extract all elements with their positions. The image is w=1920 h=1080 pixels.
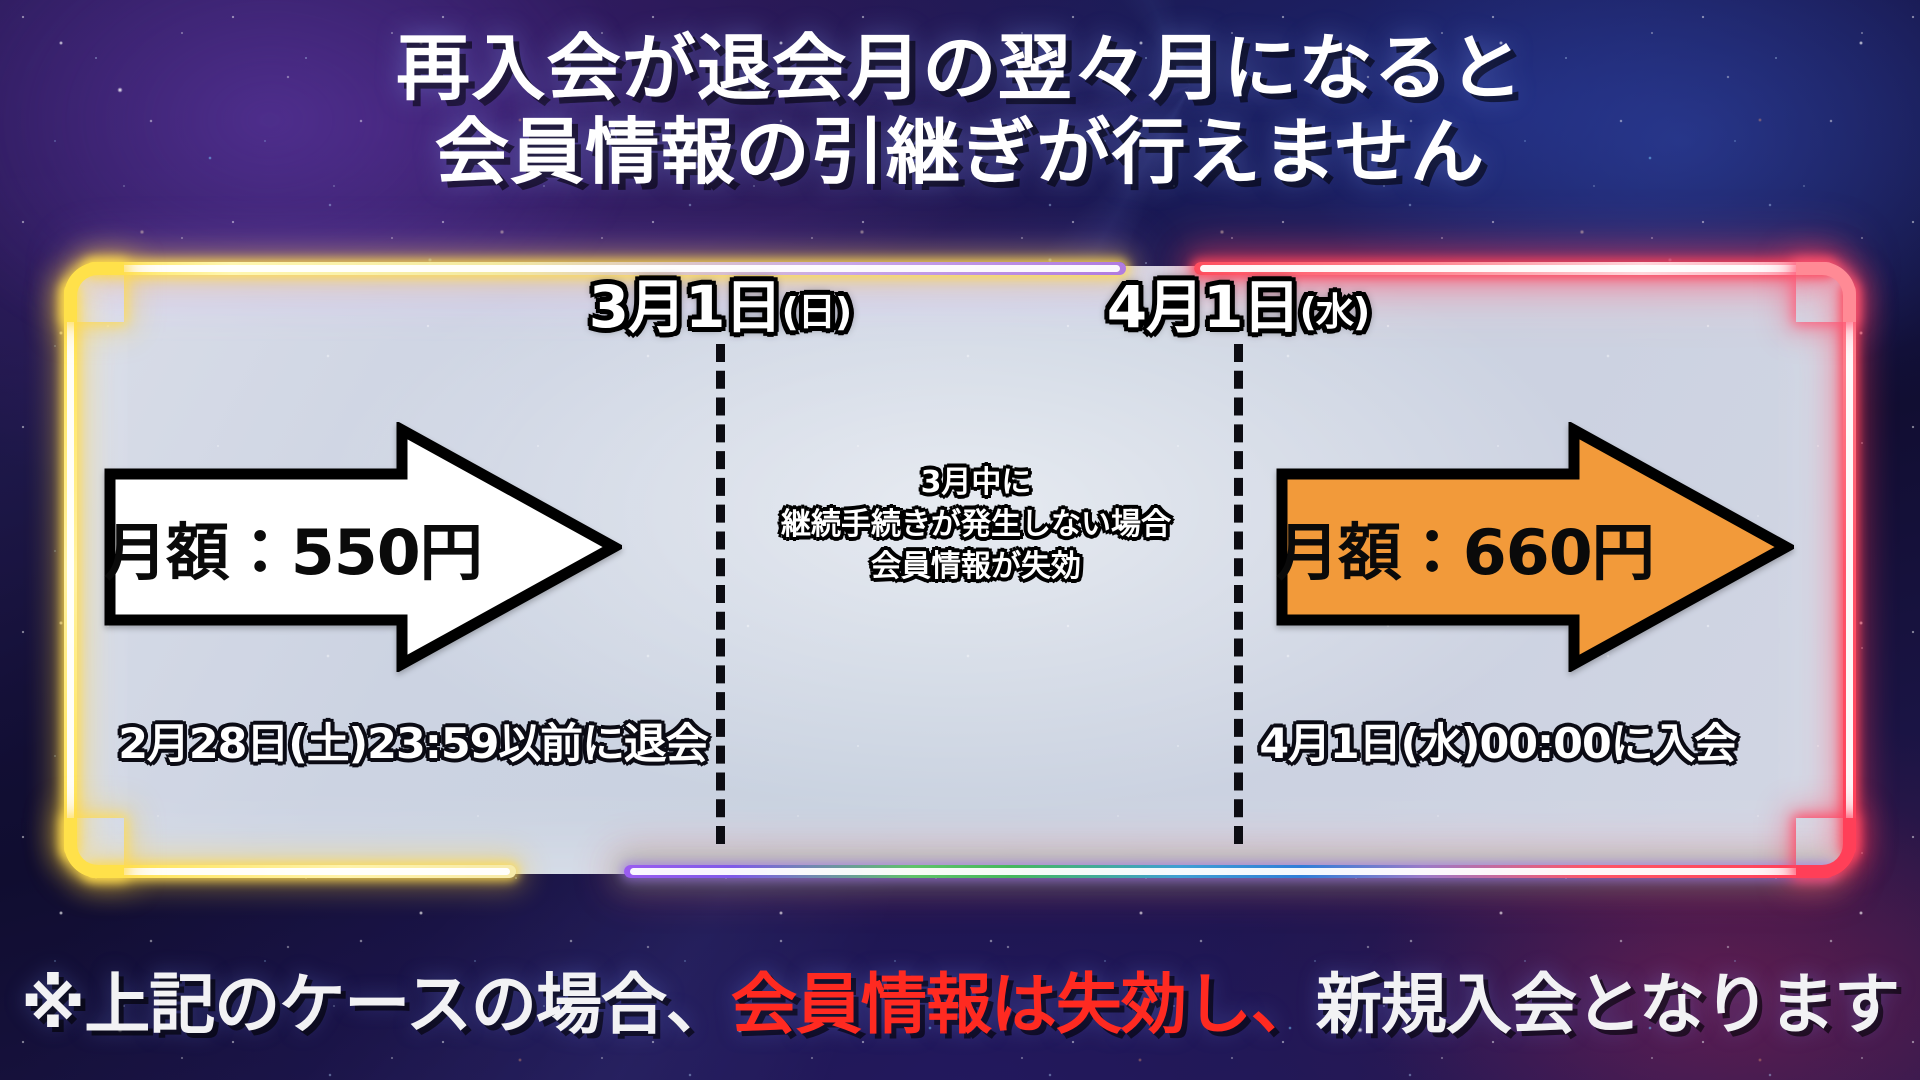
center-note-line-3: 会員情報が失効 xyxy=(716,546,1236,588)
date-march-dayofweek: (日) xyxy=(781,290,851,334)
date-label-march: 3月1日(日) xyxy=(589,274,851,345)
center-note-line-1: 3月中に xyxy=(716,462,1236,504)
headline-line-2: 会員情報の引継ぎが行えません xyxy=(0,110,1920,194)
divider-march xyxy=(716,344,725,844)
arrow-before-plan: 月額：550円 xyxy=(102,422,622,672)
bottom-banner-highlight: 会員情報は失効し、 xyxy=(731,966,1316,1043)
panel-content: 3月1日(日) 4月1日(水) 月額：550円 月額：660円 xyxy=(68,266,1852,874)
center-note: 3月中に 継続手続きが発生しない場合 会員情報が失効 xyxy=(716,462,1236,588)
infographic-canvas: 再入会が退会月の翌々月になると 会員情報の引継ぎが行えません 3月1日(日) 4… xyxy=(0,0,1920,1080)
divider-april xyxy=(1234,344,1243,844)
arrow-after-plan: 月額：660円 xyxy=(1274,422,1794,672)
neon-frame-panel: 3月1日(日) 4月1日(水) 月額：550円 月額：660円 xyxy=(52,250,1868,890)
caption-cancel: 2月28日(土)23:59以前に退会 xyxy=(118,718,707,770)
date-march-text: 3月1日 xyxy=(589,273,782,341)
date-april-dayofweek: (水) xyxy=(1299,290,1369,334)
headline: 再入会が退会月の翌々月になると 会員情報の引継ぎが行えません xyxy=(0,26,1920,194)
center-note-line-2: 継続手続きが発生しない場合 xyxy=(716,504,1236,546)
headline-line-1: 再入会が退会月の翌々月になると xyxy=(0,26,1920,110)
arrow-after-plan-label: 月額：660円 xyxy=(1270,422,1660,672)
caption-rejoin: 4月1日(水)00:00に入会 xyxy=(1259,718,1736,770)
bottom-banner: ※上記のケースの場合、会員情報は失効し、新規入会となります xyxy=(0,966,1920,1044)
bottom-banner-part-1: ※上記のケースの場合、 xyxy=(21,966,731,1043)
date-label-april: 4月1日(水) xyxy=(1107,274,1369,345)
arrow-before-plan-label: 月額：550円 xyxy=(98,422,488,672)
bottom-banner-part-3: 新規入会となります xyxy=(1316,966,1899,1043)
date-april-text: 4月1日 xyxy=(1107,273,1300,341)
